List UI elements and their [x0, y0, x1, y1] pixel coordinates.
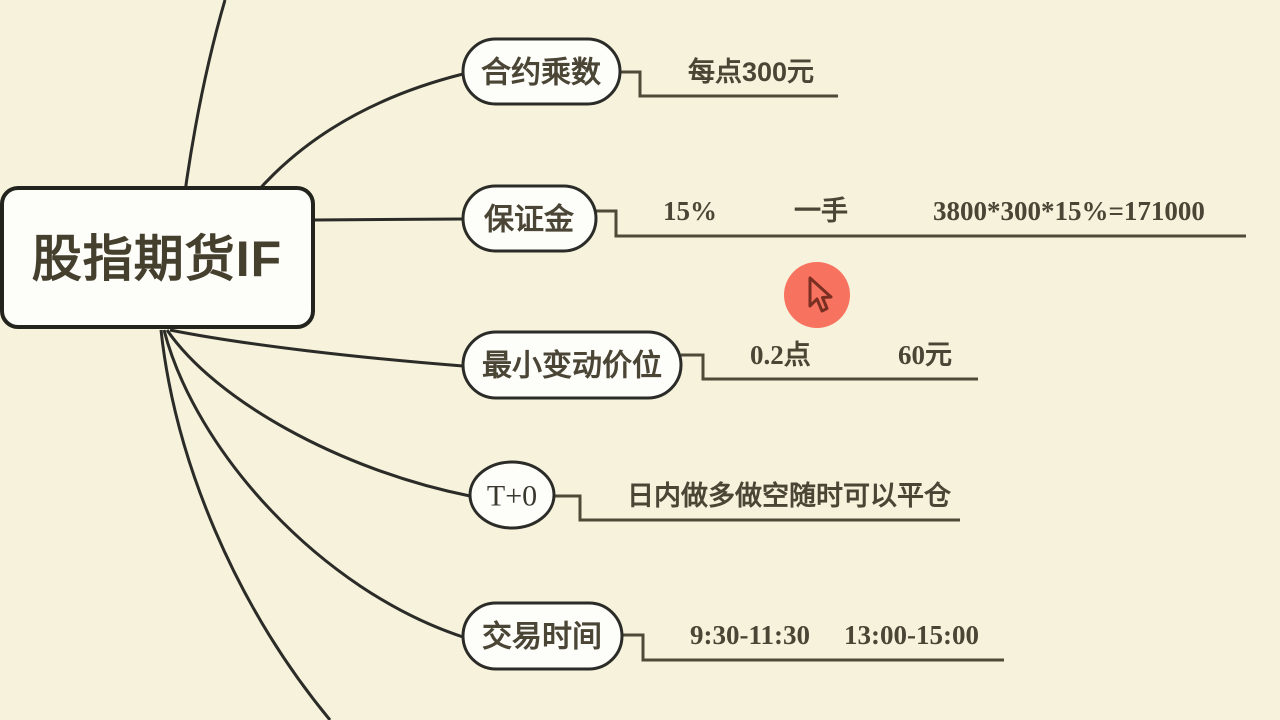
connector-min-tick	[170, 330, 463, 366]
node-t-plus-zero-label: T+0	[487, 480, 537, 513]
click-highlight	[784, 262, 850, 328]
root-node-label: 股指期货IF	[32, 231, 282, 287]
branch-min-tick[interactable]: 最小变动价位 0.2点 60元	[463, 332, 978, 398]
detail-min-tick-1: 60元	[898, 340, 952, 370]
branch-margin[interactable]: 保证金 15% 一手 3800*300*15%=171000	[463, 186, 1246, 251]
connector-t-plus-zero	[167, 330, 470, 496]
detail-margin-0: 15%	[663, 196, 717, 226]
detail-trading-hours-0: 9:30-11:30	[690, 620, 810, 650]
root-node[interactable]: 股指期货IF	[2, 188, 313, 327]
node-trading-hours-label: 交易时间	[482, 620, 602, 654]
node-min-tick-label: 最小变动价位	[482, 349, 662, 383]
branch-contract-multiplier[interactable]: 合约乘数 每点300元	[463, 39, 838, 104]
branch-t-plus-zero[interactable]: T+0 日内做多做空随时可以平仓	[470, 462, 960, 528]
node-margin-label: 保证金	[484, 203, 575, 237]
detail-contract-multiplier-0: 每点300元	[688, 56, 814, 87]
detail-trading-hours-1: 13:00-15:00	[844, 620, 979, 650]
connector-group	[161, 0, 470, 720]
detail-margin-1: 一手	[794, 196, 848, 226]
branch-trading-hours[interactable]: 交易时间 9:30-11:30 13:00-15:00	[463, 603, 1004, 669]
node-contract-multiplier-label: 合约乘数	[481, 56, 602, 90]
detail-min-tick-0: 0.2点	[750, 340, 811, 370]
connector-margin	[313, 219, 463, 220]
mindmap-screen: 股指期货IF 合约乘数 每点300元 保证金 15% 一手 3800*300*1…	[0, 0, 1280, 720]
detail-margin-2: 3800*300*15%=171000	[933, 196, 1205, 226]
mindmap-canvas: 股指期货IF 合约乘数 每点300元 保证金 15% 一手 3800*300*1…	[0, 0, 1280, 720]
detail-t-plus-zero-0: 日内做多做空随时可以平仓	[627, 480, 952, 511]
